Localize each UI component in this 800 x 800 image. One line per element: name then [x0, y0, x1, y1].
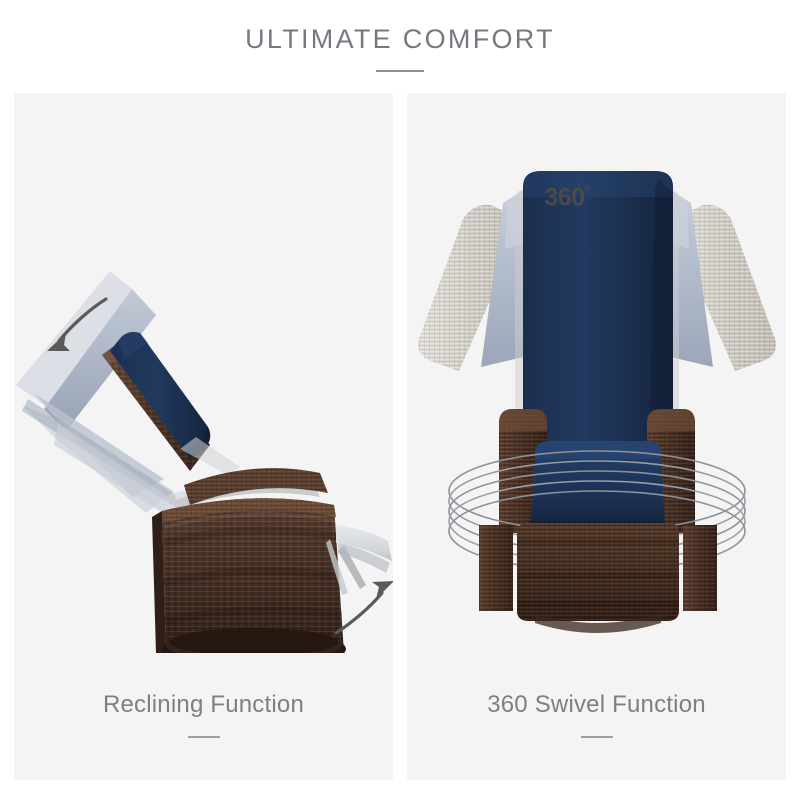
caption-swivel-text: 360 Swivel Function — [487, 691, 706, 719]
caption-reclining-divider — [188, 736, 220, 738]
seat-cushion — [531, 441, 665, 535]
panel-reclining: Reclining Function — [14, 93, 393, 780]
reclining-illustration — [14, 93, 393, 653]
caption-reclining: Reclining Function — [14, 691, 393, 738]
caption-reclining-text: Reclining Function — [103, 691, 304, 719]
chair-leg-left — [479, 525, 513, 611]
caption-swivel: 360 Swivel Function — [407, 691, 786, 738]
chair-leg-right — [683, 525, 717, 611]
caption-swivel-divider — [581, 736, 613, 738]
swivel-illustration — [407, 93, 786, 653]
page-header: ULTIMATE COMFORT — [0, 0, 800, 93]
title-divider — [376, 70, 424, 72]
page-title: ULTIMATE COMFORT — [245, 24, 555, 55]
chair-base-block — [517, 523, 679, 621]
feature-panels: Reclining Function 360° — [14, 93, 786, 780]
panel-swivel: 360° — [407, 93, 786, 780]
